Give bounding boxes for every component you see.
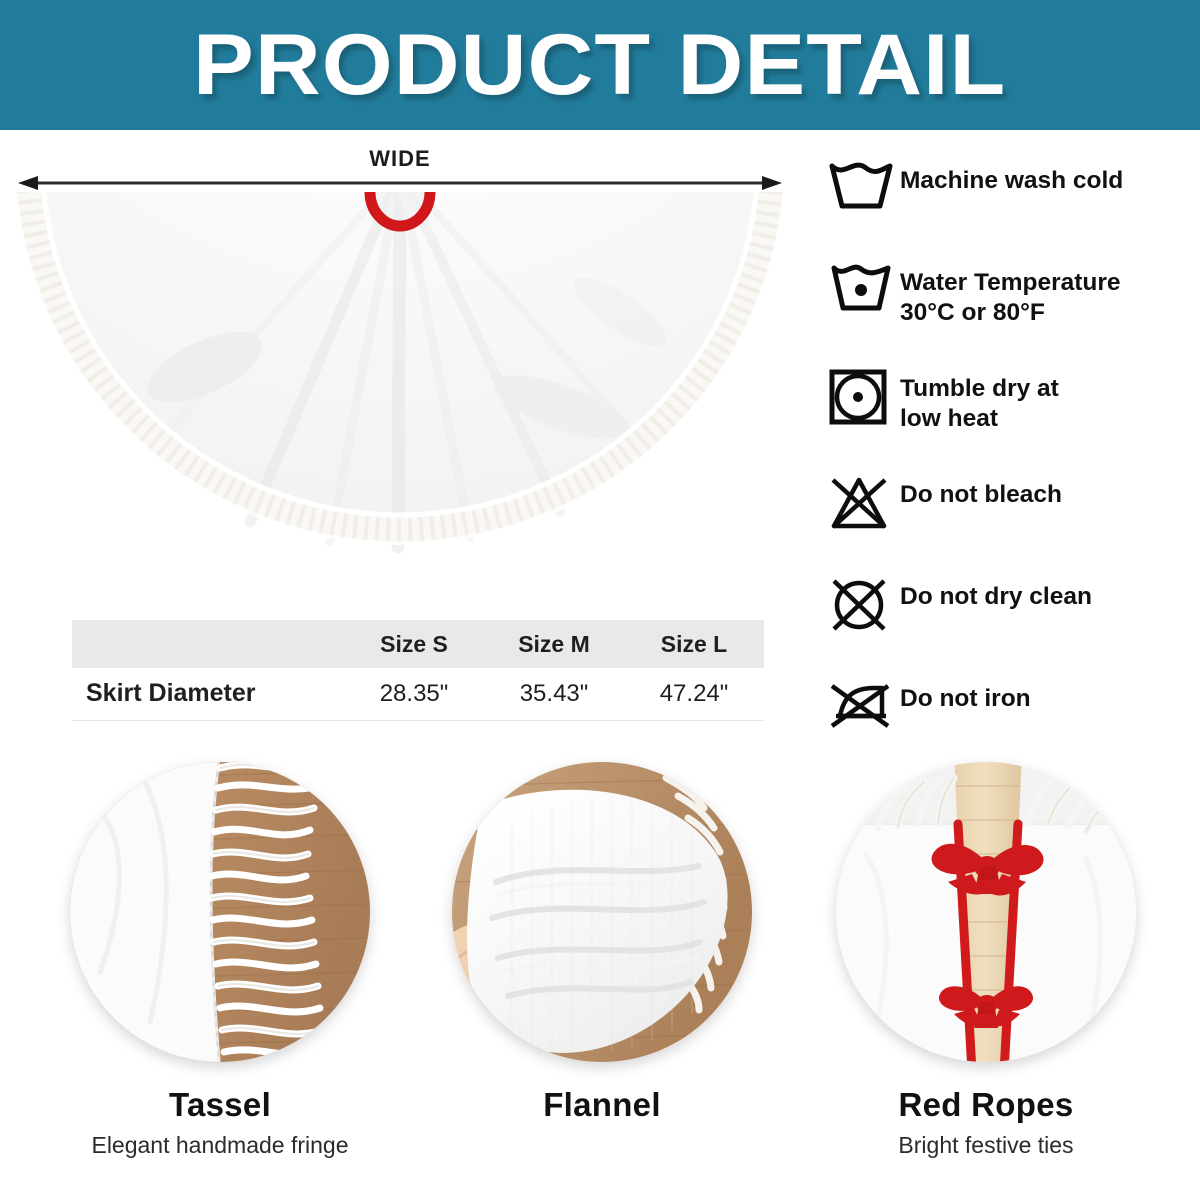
table-row: Skirt Diameter 28.35" 35.43" 47.24" — [72, 668, 764, 720]
care-label-do-not-dry-clean: Do not dry clean — [900, 576, 1092, 612]
christmas-tree-skirt-photo — [0, 192, 800, 607]
table-header-size-s: Size S — [344, 620, 484, 668]
do-not-dry-clean-icon — [828, 576, 900, 634]
table-header-blank — [72, 620, 344, 668]
care-item-machine-wash-cold: Machine wash cold — [828, 160, 1188, 222]
flannel-closeup-photo — [452, 762, 752, 1062]
feature-title-flannel: Flannel — [452, 1086, 752, 1124]
double-headed-arrow-icon — [18, 175, 782, 191]
feature-flannel: Flannel — [452, 762, 752, 1132]
tassel-closeup-photo — [70, 762, 370, 1062]
table-header-row: Size S Size M Size L — [72, 620, 764, 668]
flannel-illustration — [452, 762, 752, 1062]
cell-size-s: 28.35" — [344, 668, 484, 720]
care-label-do-not-bleach: Do not bleach — [900, 474, 1062, 510]
red-ropes-closeup-photo — [836, 762, 1136, 1062]
page-title: PRODUCT DETAIL — [193, 22, 1006, 108]
care-label-machine-wash-cold: Machine wash cold — [900, 160, 1123, 196]
table-header-size-l: Size L — [624, 620, 764, 668]
cell-size-l: 47.24" — [624, 668, 764, 720]
tassel-illustration — [70, 762, 370, 1062]
feature-title-red-ropes: Red Ropes — [836, 1086, 1136, 1124]
header-banner: PRODUCT DETAIL — [0, 0, 1200, 130]
feature-title-tassel: Tassel — [70, 1086, 370, 1124]
table-header-size-m: Size M — [484, 620, 624, 668]
red-ropes-illustration — [836, 762, 1136, 1062]
care-instructions-list: Machine wash cold Water Temperature 30°C… — [828, 160, 1188, 780]
care-line2: low heat — [900, 404, 1059, 434]
care-item-water-temperature: Water Temperature 30°C or 80°F — [828, 262, 1188, 328]
care-item-tumble-dry-low: Tumble dry at low heat — [828, 368, 1188, 434]
size-table: Size S Size M Size L Skirt Diameter 28.3… — [72, 620, 764, 721]
care-item-do-not-iron: Do not iron — [828, 678, 1188, 740]
wide-dimension-label: WIDE — [0, 146, 800, 172]
tumble-dry-low-icon — [828, 368, 900, 426]
care-label-tumble-dry-low: Tumble dry at low heat — [900, 368, 1059, 434]
feature-subtitle-tassel: Elegant handmade fringe — [70, 1132, 370, 1159]
feature-subtitle-red-ropes: Bright festive ties — [836, 1132, 1136, 1159]
row-label-skirt-diameter: Skirt Diameter — [72, 668, 344, 720]
care-line1: Tumble dry at — [900, 375, 1059, 402]
do-not-iron-icon — [828, 678, 900, 730]
feature-tassel: Tassel Elegant handmade fringe — [70, 762, 370, 1159]
water-temperature-icon — [828, 262, 900, 314]
do-not-bleach-icon — [828, 474, 900, 532]
cell-size-m: 35.43" — [484, 668, 624, 720]
care-line1: Water Temperature — [900, 269, 1121, 296]
care-line2: 30°C or 80°F — [900, 298, 1121, 328]
care-item-do-not-bleach: Do not bleach — [828, 474, 1188, 536]
care-label-do-not-iron: Do not iron — [900, 678, 1031, 714]
care-line1: Do not bleach — [900, 481, 1062, 508]
care-label-water-temperature: Water Temperature 30°C or 80°F — [900, 262, 1121, 328]
care-item-do-not-dry-clean: Do not dry clean — [828, 576, 1188, 638]
care-line1: Machine wash cold — [900, 167, 1123, 194]
care-line1: Do not dry clean — [900, 583, 1092, 610]
machine-wash-cold-icon — [828, 160, 900, 212]
tree-skirt-illustration — [0, 192, 800, 607]
feature-red-ropes: Red Ropes Bright festive ties — [836, 762, 1136, 1159]
care-line1: Do not iron — [900, 685, 1031, 712]
